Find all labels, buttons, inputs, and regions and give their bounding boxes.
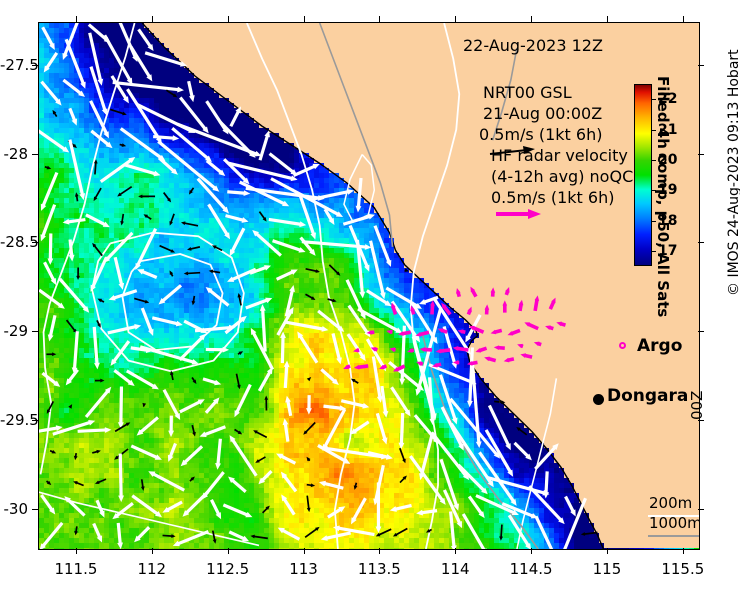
- y-tick: [32, 154, 38, 155]
- x-tick: [152, 16, 153, 22]
- hf-legend-line2: (4-12h avg) noQC: [491, 168, 633, 187]
- y-axis-label: -27.5: [0, 56, 28, 74]
- colorbar-title: Filled 4h comp, p50, All Sats: [654, 76, 672, 276]
- x-tick: [76, 16, 77, 22]
- oceancurrent-map-page: 22-Aug-2023 12Z NRT00 GSL 21-Aug 00:00Z …: [0, 0, 740, 592]
- x-axis-label: 114: [441, 560, 470, 578]
- y-tick-right: [698, 420, 704, 421]
- dongara-city-marker-icon: [593, 394, 604, 405]
- x-axis-label: 112: [137, 560, 166, 578]
- y-tick-right: [698, 242, 704, 243]
- x-tick: [607, 16, 608, 22]
- hf-legend-line3: 0.5m/s (1kt 6h): [491, 189, 614, 208]
- argo-legend-label: Argo: [637, 336, 682, 356]
- map-plot-area[interactable]: 22-Aug-2023 12Z NRT00 GSL 21-Aug 00:00Z …: [38, 22, 700, 550]
- bathymetry-legend-lines: [648, 513, 700, 539]
- x-tick: [228, 548, 229, 554]
- y-tick: [32, 331, 38, 332]
- hf-legend-line1: HF radar velocity: [491, 147, 628, 166]
- x-tick: [607, 548, 608, 554]
- x-tick: [531, 16, 532, 22]
- y-axis-label: -28.5: [0, 233, 28, 251]
- x-tick: [304, 548, 305, 554]
- y-tick-right: [698, 509, 704, 510]
- imos-credit-text: © IMOS 24-Aug-2023 09:13 Hobart: [726, 49, 740, 296]
- x-axis-label: 114.5: [510, 560, 553, 578]
- y-tick-right: [698, 331, 704, 332]
- argo-legend-marker-icon: [619, 342, 626, 349]
- gsl-legend-line3: 0.5m/s (1kt 6h): [479, 126, 602, 145]
- map-date-title: 22-Aug-2023 12Z: [463, 37, 603, 56]
- x-tick: [379, 548, 380, 554]
- x-tick: [531, 548, 532, 554]
- dongara-city-label: Dongara: [607, 386, 688, 406]
- gsl-legend-line2: 21-Aug 00:00Z: [483, 105, 602, 124]
- y-axis-label: -29: [0, 322, 28, 340]
- x-axis-label: 115.5: [661, 560, 704, 578]
- y-tick-right: [698, 154, 704, 155]
- x-tick: [76, 548, 77, 554]
- x-tick: [228, 16, 229, 22]
- vector-overlay-layer: [39, 23, 699, 549]
- colorbar-gradient: [634, 84, 652, 266]
- x-tick: [379, 16, 380, 22]
- bathymetry-200m-label: 200m: [649, 495, 692, 513]
- x-axis-label: 113: [289, 560, 318, 578]
- x-tick: [683, 548, 684, 554]
- gsl-legend-line1: NRT00 GSL: [483, 84, 572, 103]
- x-axis-label: 115: [593, 560, 622, 578]
- x-axis-label: 111.5: [54, 560, 97, 578]
- right-axis-00z-label: 00Z: [688, 391, 706, 420]
- y-axis-label: -30: [0, 500, 28, 518]
- x-tick: [455, 16, 456, 22]
- y-tick: [32, 509, 38, 510]
- x-tick: [304, 16, 305, 22]
- x-axis-label: 112.5: [206, 560, 249, 578]
- x-axis-label: 113.5: [358, 560, 401, 578]
- colorbar: [634, 84, 652, 266]
- hf-reference-arrow-icon: [495, 209, 543, 221]
- x-tick: [152, 548, 153, 554]
- y-axis-label: -28: [0, 145, 28, 163]
- x-tick: [455, 548, 456, 554]
- x-tick: [683, 16, 684, 22]
- y-tick-right: [698, 65, 704, 66]
- y-axis-label: -29.5: [0, 411, 28, 429]
